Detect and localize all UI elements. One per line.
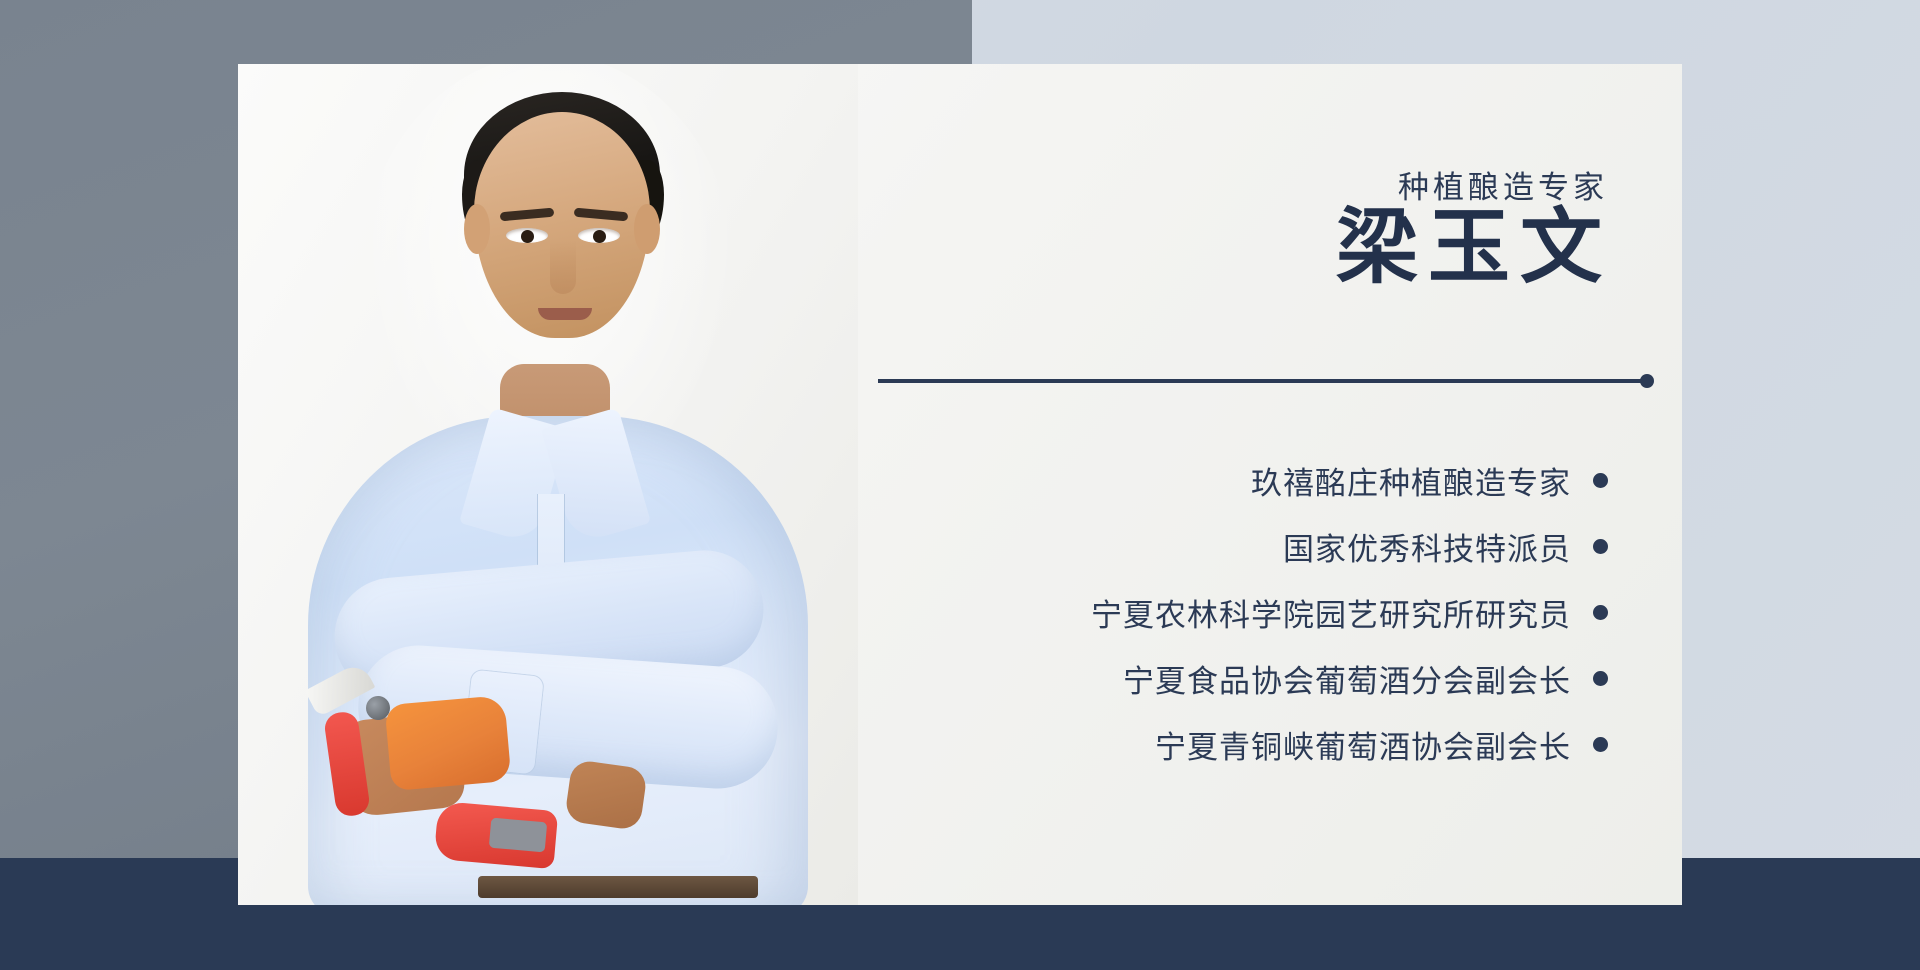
credential-label: 国家优秀科技特派员 <box>1283 524 1571 569</box>
credential-item: 宁夏青铜峡葡萄酒协会副会长 <box>848 711 1608 777</box>
credential-label: 宁夏青铜峡葡萄酒协会副会长 <box>1155 722 1571 767</box>
portrait-mouth <box>538 308 592 320</box>
dot-bullet-icon <box>1593 737 1608 752</box>
pruning-shear-bolt <box>366 696 390 720</box>
dot-bullet-icon <box>1593 671 1608 686</box>
portrait-ear-left <box>464 204 490 254</box>
credential-item: 国家优秀科技特派员 <box>848 513 1608 579</box>
expert-profile-banner: 种植酿造专家 梁玉文 玖禧酩庄种植酿造专家 国家优秀科技特派员 宁夏农林科学院园… <box>0 0 1920 970</box>
credential-item: 宁夏食品协会葡萄酒分会副会长 <box>848 645 1608 711</box>
dot-bullet-icon <box>1593 539 1608 554</box>
credential-item: 玖禧酩庄种植酿造专家 <box>848 447 1608 513</box>
portrait-nose <box>550 240 576 294</box>
portrait-ear-right <box>634 204 660 254</box>
divider-rule <box>878 379 1646 383</box>
portrait-photo <box>238 64 858 905</box>
portrait-pupil-right <box>593 230 606 243</box>
pruning-shear-grip <box>489 818 547 853</box>
dot-bullet-icon <box>1593 473 1608 488</box>
info-column: 种植酿造专家 梁玉文 玖禧酩庄种植酿造专家 国家优秀科技特派员 宁夏农林科学院园… <box>858 64 1682 905</box>
divider-end-dot-icon <box>1640 374 1654 388</box>
background-navy-right-block <box>1682 858 1920 970</box>
portrait-glove-second-hand <box>564 759 648 831</box>
portrait-face <box>474 112 650 338</box>
portrait-glove-orange <box>384 695 511 791</box>
portrait-pupil-left <box>521 230 534 243</box>
credentials-list: 玖禧酩庄种植酿造专家 国家优秀科技特派员 宁夏农林科学院园艺研究所研究员 宁夏食… <box>848 447 1608 777</box>
credential-label: 玖禧酩庄种植酿造专家 <box>1251 458 1571 503</box>
expert-name: 梁玉文 <box>1336 200 1612 297</box>
profile-card: 种植酿造专家 梁玉文 玖禧酩庄种植酿造专家 国家优秀科技特派员 宁夏农林科学院园… <box>238 64 1682 905</box>
credential-label: 宁夏农林科学院园艺研究所研究员 <box>1091 590 1571 635</box>
credential-item: 宁夏农林科学院园艺研究所研究员 <box>848 579 1608 645</box>
dot-bullet-icon <box>1593 605 1608 620</box>
portrait-belt <box>478 876 758 898</box>
credential-label: 宁夏食品协会葡萄酒分会副会长 <box>1123 656 1571 701</box>
